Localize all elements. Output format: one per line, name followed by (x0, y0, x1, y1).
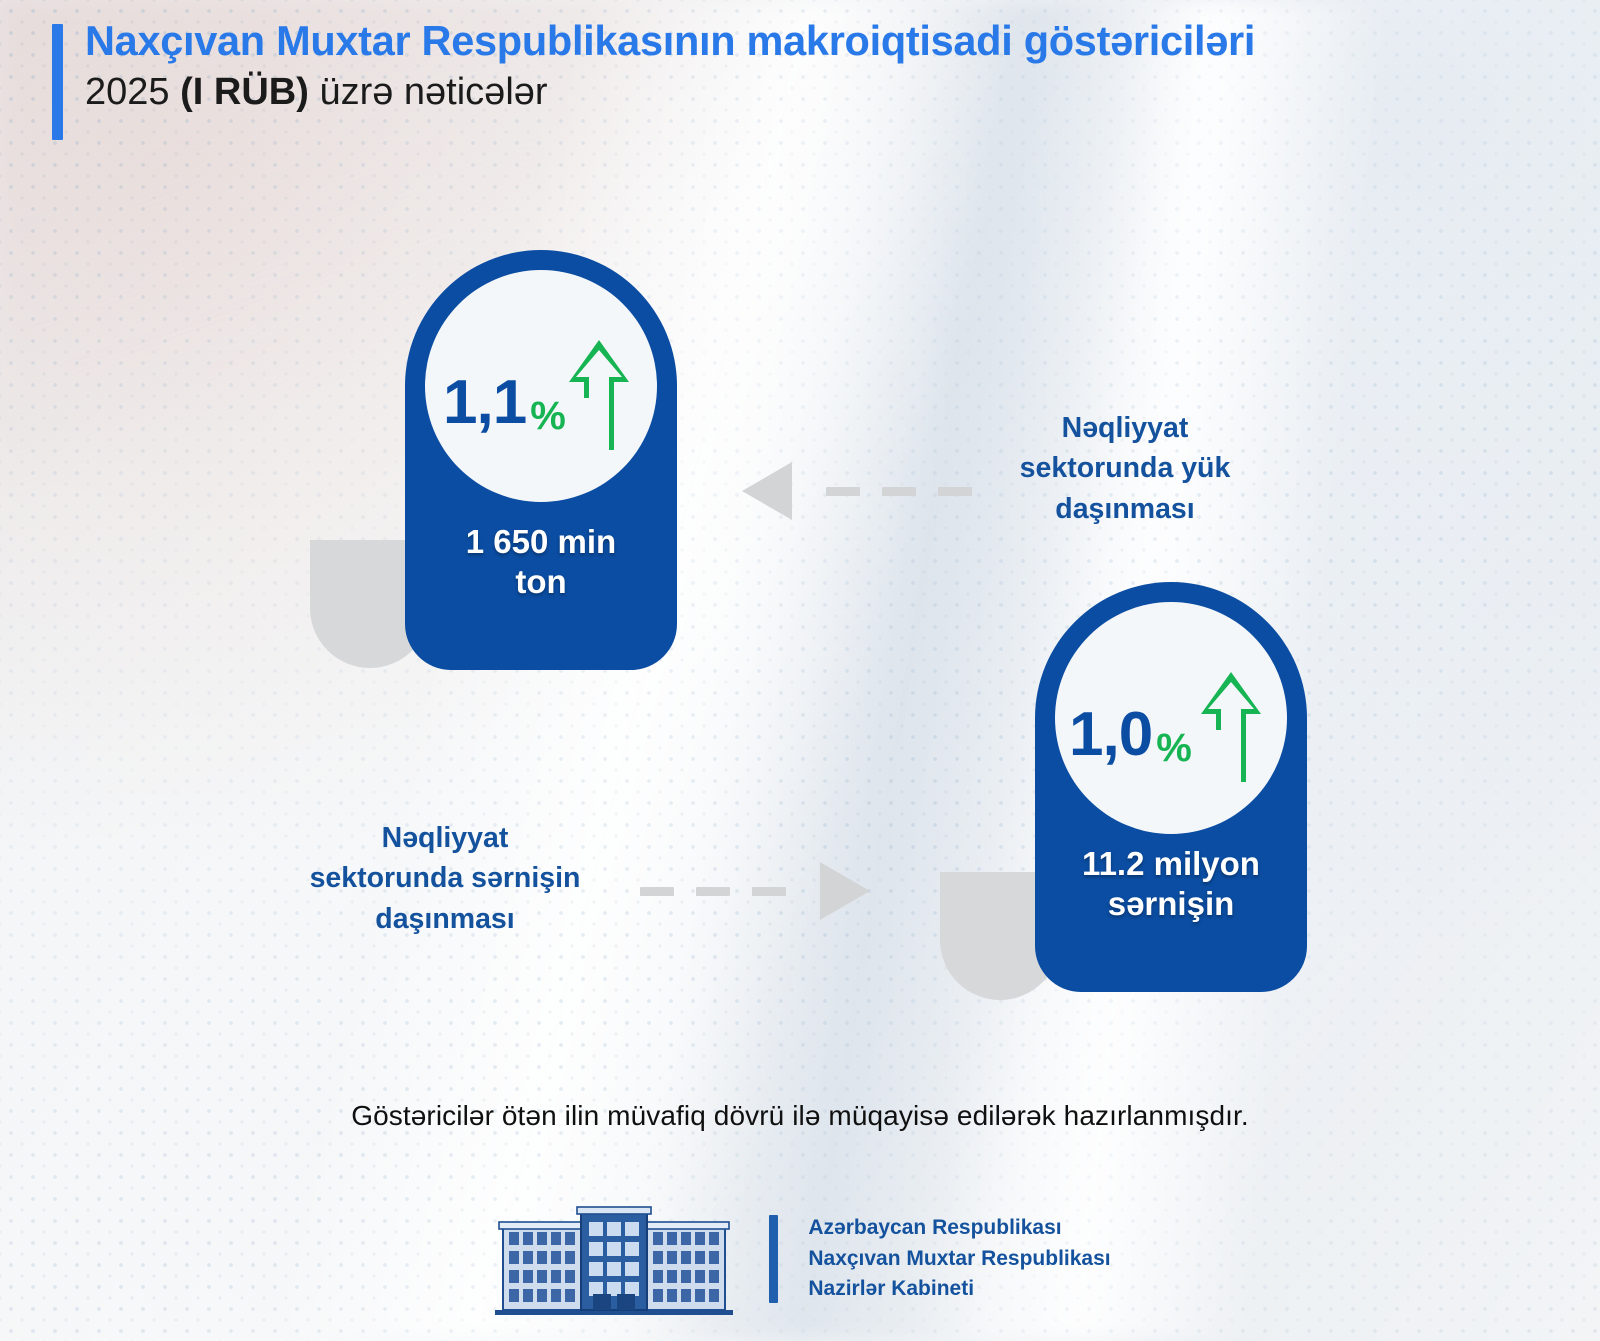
triangle-left-icon (742, 462, 792, 520)
page-subtitle: 2025 (I RÜB) üzrə nəticələr (85, 70, 1255, 116)
metric-label-passenger-line1: Nəqliyyat (255, 818, 635, 858)
dash-segment (938, 487, 972, 496)
subtitle-year: 2025 (85, 71, 170, 113)
card-value-freight: 1 650 min ton (405, 522, 677, 603)
card-value-line2-freight: ton (405, 562, 677, 602)
subtitle-tail: üzrə nəticələr (319, 71, 547, 113)
organization-line2: Naxçıvan Muxtar Respublikası (808, 1244, 1110, 1275)
metric-label-freight-line3: daşınması (985, 489, 1265, 529)
metric-label-passenger: Nəqliyyat sektorunda sərnişin daşınması (255, 818, 635, 939)
percent-circle-passenger: 1,0 % (1055, 602, 1287, 834)
trend-up-arrow-icon-freight (565, 336, 633, 454)
page-title: Naxçıvan Muxtar Respublikasının makroiqt… (85, 18, 1255, 64)
organization-line1: Azərbaycan Respublikası (808, 1213, 1110, 1244)
percent-symbol-freight: % (530, 396, 566, 436)
title-block: Naxçıvan Muxtar Respublikasının makroiqt… (85, 18, 1255, 116)
dash-segment (752, 887, 786, 896)
percent-value-freight: 1,1 (443, 372, 526, 434)
card-value-line2-passenger: sərnişin (1035, 884, 1307, 924)
trend-up-arrow-icon-passenger (1197, 668, 1265, 786)
card-value-passenger: 11.2 milyon sərnişin (1035, 844, 1307, 925)
metric-card-passenger: 1,0 % 11.2 milyon sərnişin (940, 582, 1340, 1002)
metric-card-freight: 1,1 % 1 650 min ton (310, 240, 710, 670)
subtitle-period: (I RÜB) (180, 71, 309, 113)
government-building-icon (489, 1198, 739, 1320)
connector-arrow-right (640, 862, 870, 920)
metric-label-passenger-line3: daşınması (255, 899, 635, 939)
organization-name: Azərbaycan Respublikası Naxçıvan Muxtar … (808, 1213, 1110, 1305)
metric-label-freight-line2: sektorunda yük (985, 448, 1265, 488)
card-value-line1-passenger: 11.2 milyon (1035, 844, 1307, 884)
infographic-poster: Naxçıvan Muxtar Respublikasının makroiqt… (0, 0, 1600, 1341)
dash-segment (882, 487, 916, 496)
dash-segment (640, 887, 674, 896)
percent-symbol-passenger: % (1156, 728, 1192, 768)
percent-value-passenger: 1,0 (1069, 704, 1152, 766)
metric-label-freight-line1: Nəqliyyat (985, 408, 1265, 448)
percent-circle-freight: 1,1 % (425, 270, 657, 502)
dash-segment (826, 487, 860, 496)
logo-row: Azərbaycan Respublikası Naxçıvan Muxtar … (0, 1198, 1600, 1320)
connector-arrow-left (742, 462, 972, 520)
footnote: Göstəricilər ötən ilin müvafiq dövrü ilə… (0, 1100, 1600, 1132)
card-body-freight: 1,1 % 1 650 min ton (405, 250, 677, 670)
triangle-right-icon (820, 862, 870, 920)
header: Naxçıvan Muxtar Respublikasının makroiqt… (52, 18, 1572, 140)
logo-divider (769, 1215, 778, 1303)
metric-label-freight: Nəqliyyat sektorunda yük daşınması (985, 408, 1265, 529)
card-value-line1-freight: 1 650 min (405, 522, 677, 562)
metric-label-passenger-line2: sektorunda sərnişin (255, 858, 635, 898)
accent-bar (52, 24, 63, 140)
card-body-passenger: 1,0 % 11.2 milyon sərnişin (1035, 582, 1307, 992)
organization-line3: Nazirlər Kabineti (808, 1274, 1110, 1305)
dash-segment (696, 887, 730, 896)
